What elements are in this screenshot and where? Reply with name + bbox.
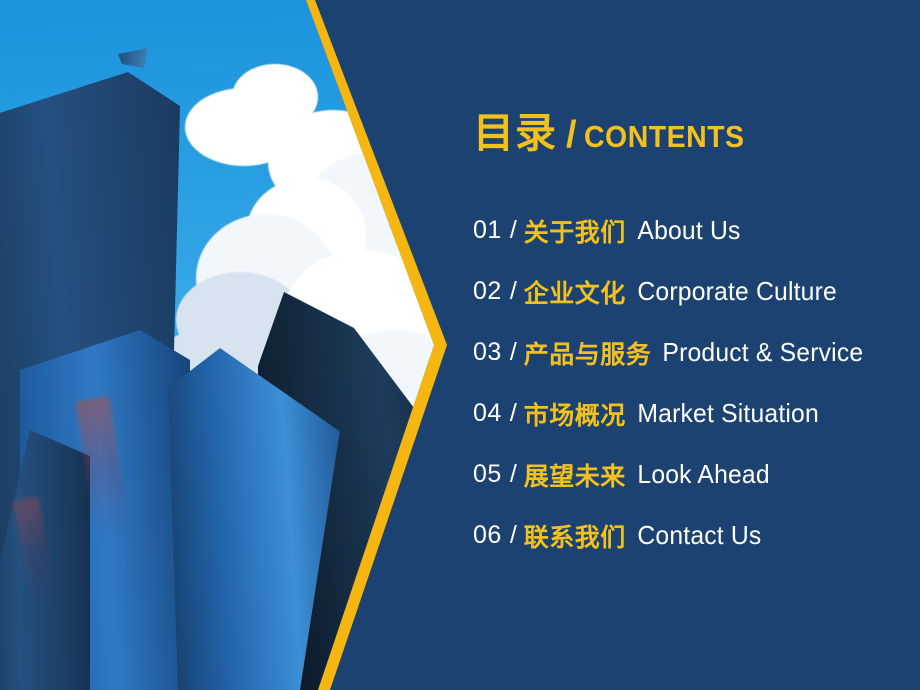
toc-label-cn: 企业文化 xyxy=(524,274,626,310)
toc-label-cn: 市场概况 xyxy=(524,396,626,432)
toc-number: 01 xyxy=(473,216,502,245)
toc-label-en: Market Situation xyxy=(626,398,819,429)
toc-number: 06 xyxy=(473,521,502,550)
toc-number: 04 xyxy=(473,399,502,428)
page-title-separator: / xyxy=(557,114,584,156)
toc-label-en: About Us xyxy=(626,215,741,246)
toc-item-04[interactable]: 04 / 市场概况 Market Situation xyxy=(473,383,920,444)
cover-photo xyxy=(0,0,460,690)
rooftop-detail xyxy=(118,48,148,68)
toc-label-cn: 关于我们 xyxy=(524,213,626,249)
toc-number: 03 xyxy=(473,338,502,367)
toc-item-06[interactable]: 06 / 联系我们 Contact Us xyxy=(473,505,920,566)
toc-separator: / xyxy=(502,277,524,306)
page-title-en: CONTENTS xyxy=(584,121,745,152)
page-title: 目录/CONTENTS xyxy=(473,113,758,154)
presentation-slide: 目录/CONTENTS 01 / 关于我们 About Us 02 / 企业文化… xyxy=(0,0,920,690)
toc-item-01[interactable]: 01 / 关于我们 About Us xyxy=(473,200,920,261)
toc-label-en: Product & Service xyxy=(651,337,863,368)
toc-number: 05 xyxy=(473,460,502,489)
toc-separator: / xyxy=(502,216,524,245)
page-title-cn: 目录 xyxy=(473,110,557,156)
toc-label-cn: 展望未来 xyxy=(524,457,626,493)
toc-label-cn: 产品与服务 xyxy=(524,335,652,371)
toc-separator: / xyxy=(502,460,524,489)
toc-label-en: Corporate Culture xyxy=(626,276,837,307)
toc-label-cn: 联系我们 xyxy=(524,518,626,554)
toc-separator: / xyxy=(502,338,524,367)
toc-item-03[interactable]: 03 / 产品与服务 Product & Service xyxy=(473,322,920,383)
skyscraper-photograph xyxy=(0,0,460,690)
toc-separator: / xyxy=(502,521,524,550)
toc-separator: / xyxy=(502,399,524,428)
contents-panel: 目录/CONTENTS 01 / 关于我们 About Us 02 / 企业文化… xyxy=(460,0,920,690)
toc-item-05[interactable]: 05 / 展望未来 Look Ahead xyxy=(473,444,920,505)
table-of-contents: 01 / 关于我们 About Us 02 / 企业文化 Corporate C… xyxy=(473,200,920,566)
toc-number: 02 xyxy=(473,277,502,306)
toc-item-02[interactable]: 02 / 企业文化 Corporate Culture xyxy=(473,261,920,322)
toc-label-en: Look Ahead xyxy=(626,459,770,490)
toc-label-en: Contact Us xyxy=(626,520,761,551)
